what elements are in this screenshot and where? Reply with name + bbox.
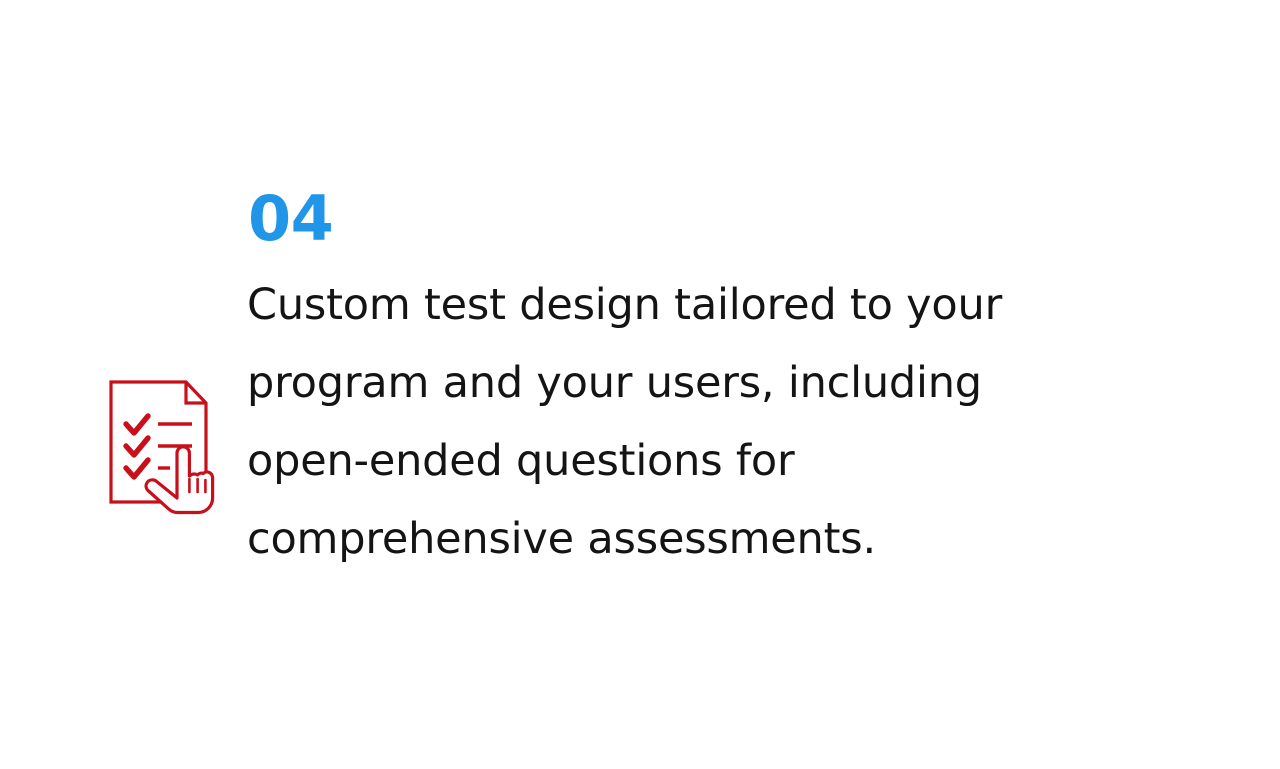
step-number: 04 [247, 188, 1097, 266]
checklist-document-hand-icon-svg [104, 376, 220, 520]
feature-description: Custom test design tailored to your prog… [247, 266, 1092, 578]
feature-text-block: 04 Custom test design tailored to your p… [247, 188, 1097, 578]
feature-slide: 04 Custom test design tailored to your p… [0, 0, 1280, 769]
checklist-document-hand-icon [104, 376, 220, 520]
